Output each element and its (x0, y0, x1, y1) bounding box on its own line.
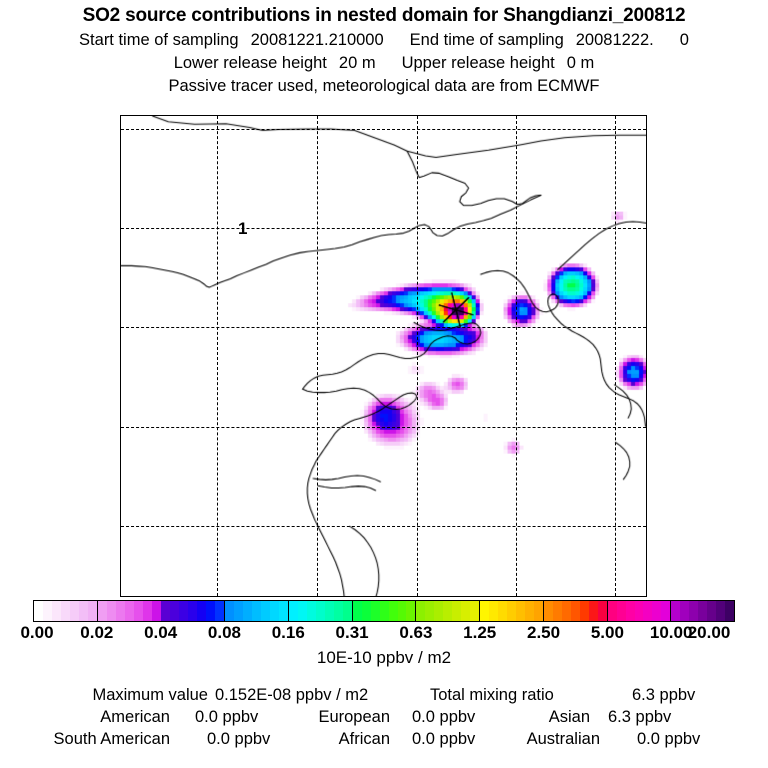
colorbar-step (443, 601, 452, 621)
colorbar-tick-6: 0.63 (399, 623, 432, 643)
colorbar-band-7 (480, 601, 544, 621)
colorbar-step (707, 601, 716, 621)
continent-value-australian: 0.0 ppbv (637, 728, 700, 750)
colorbar-step (179, 601, 188, 621)
colorbar-band-2 (161, 601, 225, 621)
gridline-horizontal-0 (121, 129, 646, 130)
gridline-horizontal-2 (121, 327, 646, 328)
concentration-field-canvas (121, 116, 646, 596)
continent-value-south-american: 0.0 ppbv (207, 728, 270, 750)
colorbar-step (152, 601, 161, 621)
colorbar-step (598, 601, 607, 621)
colorbar-step (571, 601, 580, 621)
colorbar-step (170, 601, 179, 621)
colorbar-tick-0: 0.00 (20, 623, 53, 643)
colorbar-step (234, 601, 243, 621)
colorbar-tick-7: 1.25 (463, 623, 496, 643)
continent-value-african: 0.0 ppbv (412, 728, 475, 750)
continent-value-european: 0.0 ppbv (412, 706, 475, 728)
colorbar-step (661, 601, 670, 621)
continent-name-african: African (339, 728, 390, 750)
colorbar-step (143, 601, 152, 621)
gridline-horizontal-3 (121, 427, 646, 428)
total-mixing-ratio-label: Total mixing ratio (430, 684, 554, 706)
colorbar-step (480, 601, 489, 621)
colorbar-step (680, 601, 689, 621)
colorbar-tick-10: 10.00 (650, 623, 693, 643)
colorbar-step (252, 601, 261, 621)
colorbar-step (617, 601, 626, 621)
colorbar-step (652, 601, 661, 621)
colorbar-step (353, 601, 362, 621)
colorbar-step (434, 601, 443, 621)
continent-value-asian: 6.3 ppbv (608, 706, 671, 728)
colorbar-step (562, 601, 571, 621)
colorbar-step (507, 601, 516, 621)
colorbar-step (261, 601, 270, 621)
colorbar-step (316, 601, 325, 621)
colorbar-step (289, 601, 298, 621)
colorbar-step (389, 601, 398, 621)
colorbar-step (107, 601, 116, 621)
colorbar-step (371, 601, 380, 621)
upper-release-value: 0 m (567, 54, 595, 72)
end-time-value-tail: 0 (680, 31, 689, 49)
colorbar-step (380, 601, 389, 621)
colorbar-step (307, 601, 316, 621)
colorbar-step (525, 601, 534, 621)
colorbar-step (215, 601, 224, 621)
colorbar-step (671, 601, 680, 621)
colorbar-band-1 (98, 601, 162, 621)
colorbar-step (725, 601, 734, 621)
continent-name-south-american: South American (54, 728, 170, 750)
colorbar-step (643, 601, 652, 621)
colorbar-step (553, 601, 562, 621)
colorbar-step (343, 601, 352, 621)
maximum-value: 0.152E-08 ppbv / m2 (215, 684, 368, 706)
colorbar-step (188, 601, 197, 621)
colorbar-step (498, 601, 507, 621)
colorbar-step (206, 601, 215, 621)
colorbar-tick-3: 0.08 (208, 623, 241, 643)
header-block: SO2 source contributions in nested domai… (0, 0, 768, 98)
start-time-label: Start time of sampling (79, 31, 239, 49)
colorbar-tick-5: 0.31 (336, 623, 369, 643)
continent-name-american: American (100, 706, 170, 728)
colorbar-step (197, 601, 206, 621)
colorbar-band-4 (289, 601, 353, 621)
continent-name-asian: Asian (549, 706, 590, 728)
colorbar-band-0 (34, 601, 98, 621)
stats-row-continents-2: South American 0.0 ppbv African 0.0 ppbv… (0, 728, 768, 750)
upper-release-label: Upper release height (402, 54, 555, 72)
colorbar-step (161, 601, 170, 621)
colorbar-step (608, 601, 617, 621)
colorbar-step (635, 601, 644, 621)
colorbar-step (580, 601, 589, 621)
nested-domain-label: 1 (238, 220, 247, 237)
gridline-horizontal-4 (121, 526, 646, 527)
lower-release-value: 20 m (339, 54, 376, 72)
colorbar-tick-2: 0.04 (144, 623, 177, 643)
gridline-vertical-2 (417, 116, 418, 596)
continent-value-american: 0.0 ppbv (195, 706, 258, 728)
tracer-note: Passive tracer used, meteorological data… (0, 75, 768, 98)
gridline-vertical-4 (615, 116, 616, 596)
colorbar-step (362, 601, 371, 621)
colorbar-step (270, 601, 279, 621)
colorbar-tick-9: 5.00 (591, 623, 624, 643)
colorbar-step (279, 601, 288, 621)
colorbar-band-5 (353, 601, 417, 621)
colorbar-step (125, 601, 134, 621)
colorbar-step (398, 601, 407, 621)
colorbar-step (544, 601, 553, 621)
gridline-vertical-3 (516, 116, 517, 596)
colorbar-tick-11: 20.00 (688, 623, 731, 643)
colorbar-step (298, 601, 307, 621)
gridline-vertical-1 (317, 116, 318, 596)
maximum-value-label: Maximum value (92, 684, 208, 706)
continent-name-australian: Australian (527, 728, 600, 750)
colorbar-step (534, 601, 543, 621)
colorbar-step (406, 601, 415, 621)
colorbar-unit-label: 10E-10 ppbv / m2 (0, 648, 768, 668)
colorbar-step (489, 601, 498, 621)
end-time-value: 20081222. (576, 31, 654, 49)
colorbar-band-3 (225, 601, 289, 621)
colorbar-step (698, 601, 707, 621)
colorbar-tick-1: 0.02 (80, 623, 113, 643)
colorbar[interactable] (33, 600, 735, 622)
map-plot-area[interactable]: 1 (120, 115, 647, 597)
colorbar-step (70, 601, 79, 621)
gridline-vertical-0 (217, 116, 218, 596)
colorbar-step (461, 601, 470, 621)
colorbar-step (716, 601, 725, 621)
colorbar-step (325, 601, 334, 621)
release-height-line: Lower release height20 mUpper release he… (0, 52, 768, 75)
colorbar-step (43, 601, 52, 621)
colorbar-tick-4: 0.16 (272, 623, 305, 643)
colorbar-step (416, 601, 425, 621)
sampling-time-line: Start time of sampling20081221.210000End… (0, 29, 768, 52)
colorbar-step (243, 601, 252, 621)
start-time-value: 20081221.210000 (251, 31, 384, 49)
colorbar-step (52, 601, 61, 621)
colorbar-step (116, 601, 125, 621)
colorbar-step (452, 601, 461, 621)
colorbar-tick-labels: 0.000.020.040.080.160.310.631.252.505.00… (0, 623, 768, 645)
colorbar-step (334, 601, 343, 621)
colorbar-band-6 (416, 601, 480, 621)
colorbar-step (98, 601, 107, 621)
gridline-horizontal-1 (121, 228, 646, 229)
statistics-block: Maximum value 0.152E-08 ppbv / m2 Total … (0, 684, 768, 750)
colorbar-tick-8: 2.50 (527, 623, 560, 643)
colorbar-step (626, 601, 635, 621)
colorbar-step (225, 601, 234, 621)
colorbar-step (134, 601, 143, 621)
colorbar-step (470, 601, 479, 621)
colorbar-step (88, 601, 97, 621)
colorbar-band-8 (544, 601, 608, 621)
page-title: SO2 source contributions in nested domai… (0, 3, 768, 29)
end-time-label: End time of sampling (410, 31, 564, 49)
colorbar-step (516, 601, 525, 621)
continent-name-european: European (318, 706, 390, 728)
colorbar-step (79, 601, 88, 621)
total-mixing-ratio-value: 6.3 ppbv (632, 684, 695, 706)
colorbar-step (425, 601, 434, 621)
stats-row-summary: Maximum value 0.152E-08 ppbv / m2 Total … (0, 684, 768, 706)
colorbar-step (34, 601, 43, 621)
colorbar-step (689, 601, 698, 621)
colorbar-band-9 (608, 601, 672, 621)
lower-release-label: Lower release height (174, 54, 327, 72)
colorbar-step (61, 601, 70, 621)
colorbar-band-10 (671, 601, 734, 621)
colorbar-step (589, 601, 598, 621)
stats-row-continents-1: American 0.0 ppbv European 0.0 ppbv Asia… (0, 706, 768, 728)
